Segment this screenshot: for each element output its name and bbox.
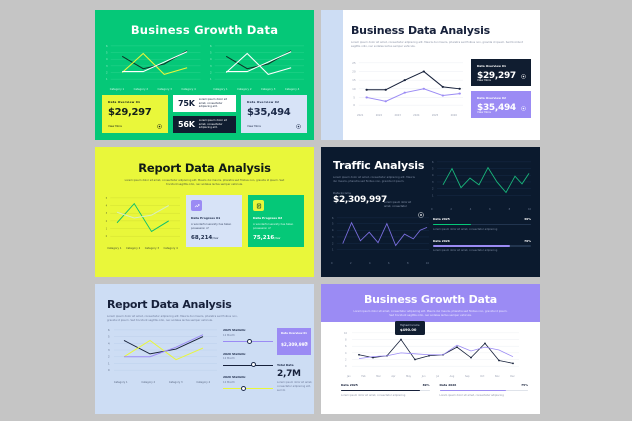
card-data-progress-01[interactable]: Data Progress 01 A wonderful serenity ha… bbox=[186, 195, 242, 247]
x-label: Category 3 bbox=[169, 381, 183, 384]
svg-text:1: 1 bbox=[432, 194, 434, 197]
card-data-overview-02[interactable]: Data Overview 02 $35,494 View More bbox=[241, 95, 307, 133]
gear-icon[interactable] bbox=[521, 96, 526, 115]
x-label: Mar bbox=[376, 375, 381, 378]
line-chart-svg: 654 321 bbox=[105, 44, 201, 82]
x-label: Feb bbox=[361, 375, 365, 378]
x-label: Category 1 bbox=[107, 247, 121, 250]
income-note: Lorem ipsum dolor sit amet, consectetur bbox=[384, 201, 412, 209]
line-chart-svg: 654 321 bbox=[209, 44, 305, 82]
svg-text:2: 2 bbox=[106, 220, 108, 223]
card-value: 75,216/Year bbox=[253, 235, 299, 241]
line-chart-svg: 1086 420 bbox=[343, 330, 519, 370]
svg-text:0: 0 bbox=[106, 235, 108, 238]
svg-text:1: 1 bbox=[106, 228, 108, 231]
svg-text:6: 6 bbox=[345, 345, 347, 348]
view-more-link[interactable]: View More bbox=[477, 110, 491, 114]
statistic-2025: 2025 Statistic 12 Month bbox=[223, 328, 273, 345]
svg-text:4: 4 bbox=[106, 205, 108, 208]
x-axis-labels: Category 1 Category 2 Category 3 Categor… bbox=[107, 381, 217, 384]
svg-text:2: 2 bbox=[332, 243, 334, 246]
progress-track[interactable] bbox=[433, 245, 531, 247]
statistic-months: 12 Month bbox=[223, 381, 273, 384]
x-axis-labels: 2021 2022 2023 2024 2025 2026 bbox=[351, 114, 463, 117]
line-chart-svg: 543 210 bbox=[105, 195, 180, 241]
progress-track[interactable] bbox=[440, 390, 529, 392]
svg-text:1: 1 bbox=[209, 77, 211, 81]
x-label: 10 bbox=[426, 262, 429, 265]
progress-label: Data 2026 bbox=[440, 383, 457, 387]
svg-text:10: 10 bbox=[352, 87, 356, 91]
progress-track[interactable] bbox=[341, 390, 430, 392]
card-data-overview-01[interactable]: Data Overview 01 $2,309,997 bbox=[277, 328, 311, 355]
progress-description: Lorem ipsum dolor sit amet, consectetur … bbox=[341, 394, 430, 397]
subtitle-text: Lorem ipsum dolor sit amet, consectetur … bbox=[95, 179, 314, 187]
svg-text:3: 3 bbox=[106, 212, 108, 215]
x-label: Dec bbox=[510, 375, 515, 378]
x-label: 2021 bbox=[357, 114, 363, 117]
svg-text:25: 25 bbox=[352, 61, 356, 65]
svg-text:6: 6 bbox=[209, 44, 211, 48]
progress-percent: 75% bbox=[521, 383, 528, 387]
svg-text:1: 1 bbox=[332, 248, 334, 251]
x-label: Category 2 bbox=[237, 88, 251, 91]
x-label: 2022 bbox=[376, 114, 382, 117]
slider-track bbox=[223, 388, 273, 389]
page-title: Business Data Analysis bbox=[351, 24, 531, 37]
kpi-text: Lorem ipsum dolor sit amet, consectetur … bbox=[199, 119, 231, 130]
x-axis-labels: Category 1 Category 2 Category 3 Categor… bbox=[209, 88, 305, 91]
card-data-overview-02[interactable]: Data Overview 02 $35,494 View More bbox=[471, 91, 531, 118]
note-icon bbox=[253, 200, 264, 211]
progress-percent: 89% bbox=[423, 383, 430, 387]
svg-text:3: 3 bbox=[432, 181, 434, 184]
line-chart-svg: 654 321 bbox=[331, 215, 429, 257]
progress-block-data-2025: Data 2025 39% Lorem ipsum dolor sit amet… bbox=[433, 217, 531, 231]
slide-header: Business Growth Data Lorem ipsum dolor s… bbox=[321, 284, 540, 322]
card-value: $29,297 bbox=[108, 107, 162, 118]
subtitle-text: Lorem ipsum dolor sit amet, consectetur … bbox=[321, 310, 540, 318]
slide-business-growth-data-purple[interactable]: Business Growth Data Lorem ipsum dolor s… bbox=[321, 284, 540, 414]
line-chart-svg: 654 321 bbox=[431, 159, 531, 203]
chart-s6: 1086 420 Jan Feb Mar Apr May Jun Jul Aug… bbox=[343, 330, 519, 374]
x-label: Jun bbox=[422, 375, 426, 378]
total-heading: Total Data bbox=[277, 363, 313, 367]
card-label: Data Overview 01 bbox=[108, 100, 162, 104]
card-value: 68,214/Year bbox=[191, 235, 237, 241]
progress-label: Data 2025 bbox=[433, 217, 450, 221]
x-label: 2 bbox=[350, 262, 352, 265]
svg-text:20: 20 bbox=[352, 70, 356, 74]
slider[interactable] bbox=[223, 386, 273, 392]
x-label: Category 4 bbox=[285, 88, 299, 91]
x-label: 2 bbox=[450, 208, 452, 211]
progress-description: Lorem ipsum dolor sit amet, consectetur … bbox=[440, 394, 529, 397]
svg-text:0: 0 bbox=[353, 104, 355, 108]
card-description: A wonderful serenity has taken possessio… bbox=[253, 223, 299, 231]
chart-s4-top: 654 321 0 2 4 6 8 10 bbox=[431, 159, 531, 211]
svg-text:5: 5 bbox=[353, 96, 355, 100]
svg-text:5: 5 bbox=[106, 197, 108, 200]
statistic-heading: 2025 Statistic bbox=[223, 328, 273, 332]
card-label: Data Overview 01 bbox=[477, 64, 525, 68]
svg-text:5: 5 bbox=[432, 168, 434, 171]
gear-icon[interactable] bbox=[304, 331, 308, 350]
svg-text:0: 0 bbox=[108, 369, 110, 372]
svg-text:3: 3 bbox=[209, 64, 211, 68]
line-chart-svg: 252015 1050 bbox=[351, 59, 463, 109]
svg-text:5: 5 bbox=[209, 51, 211, 55]
x-label: 6 bbox=[388, 262, 390, 265]
content-row: 543 210 Category 1 Category 2 Category 3… bbox=[95, 187, 314, 247]
view-more-link[interactable]: View More bbox=[108, 124, 122, 128]
card-data-overview-01[interactable]: Data Overview 01 $29,297 View More bbox=[471, 59, 531, 86]
svg-text:5: 5 bbox=[106, 51, 108, 55]
slide-business-data-analysis[interactable]: Business Data Analysis Lorem ipsum dolor… bbox=[321, 10, 540, 140]
statistic-months: 12 Month bbox=[223, 357, 273, 360]
svg-text:10: 10 bbox=[344, 332, 348, 335]
progress-percent: 79% bbox=[524, 239, 531, 243]
svg-text:6: 6 bbox=[332, 217, 334, 220]
progress-label: Data 2025 bbox=[341, 383, 358, 387]
progress-track[interactable] bbox=[433, 224, 531, 226]
x-label: Category 4 bbox=[181, 88, 195, 91]
x-label: 4 bbox=[470, 208, 472, 211]
statistic-slider-list: 2025 Statistic 12 Month 2026 Statistic 1… bbox=[223, 328, 273, 399]
x-label: Jan bbox=[347, 375, 351, 378]
page-title: Report Data Analysis bbox=[107, 298, 314, 311]
line-chart-svg: 654 3210 bbox=[107, 327, 217, 375]
x-label: 8 bbox=[407, 262, 409, 265]
x-label: Sep bbox=[465, 375, 470, 378]
x-label: Category 3 bbox=[158, 88, 172, 91]
x-label: Category 1 bbox=[110, 88, 124, 91]
x-label: 4 bbox=[369, 262, 371, 265]
progress-description: Lorem ipsum dolor sit amet, consectetur … bbox=[433, 249, 531, 252]
x-label: 10 bbox=[528, 208, 531, 211]
svg-text:4: 4 bbox=[108, 342, 110, 345]
x-label: Nov bbox=[495, 375, 500, 378]
x-label: Category 3 bbox=[261, 88, 275, 91]
x-axis-labels: Jan Feb Mar Apr May Jun Jul Aug Sep Oct … bbox=[343, 375, 519, 378]
progress-fill bbox=[341, 390, 420, 392]
slide-business-growth-data[interactable]: Business Growth Data 654 321 bbox=[95, 10, 314, 140]
total-value: 2,7M bbox=[277, 369, 313, 379]
x-label: Category 4 bbox=[196, 381, 210, 384]
x-label: 8 bbox=[509, 208, 511, 211]
chart-s3: 543 210 Category 1 Category 2 Category 3… bbox=[105, 195, 180, 247]
x-label: 6 bbox=[489, 208, 491, 211]
progress-fill bbox=[433, 245, 510, 247]
svg-text:6: 6 bbox=[106, 44, 108, 48]
statistic-2026-dark: 2026 Statistic 12 Month bbox=[223, 352, 273, 369]
x-label: Category 4 bbox=[163, 247, 177, 250]
page-title: Report Data Analysis bbox=[95, 161, 314, 175]
x-label: Oct bbox=[480, 375, 484, 378]
x-label: Aug bbox=[450, 375, 455, 378]
svg-text:8: 8 bbox=[345, 339, 347, 342]
slider[interactable] bbox=[223, 339, 273, 345]
progress-block-data-2026: Data 2026 75% Lorem ipsum dolor sit amet… bbox=[440, 383, 529, 397]
x-label: 0 bbox=[331, 262, 333, 265]
page-title: Business Growth Data bbox=[321, 293, 540, 306]
slider-track bbox=[223, 365, 273, 366]
total-description: Lorem ipsum dolor sit amet, consectetur … bbox=[277, 381, 313, 392]
page-title: Business Growth Data bbox=[95, 23, 314, 37]
slide-report-data-analysis-blue[interactable]: Report Data Analysis Lorem ipsum dolor s… bbox=[95, 284, 314, 414]
svg-text:5: 5 bbox=[332, 223, 334, 226]
slide-report-data-analysis-yellow[interactable]: Report Data Analysis Lorem ipsum dolor s… bbox=[95, 147, 314, 277]
tooltip-label: Highest Income bbox=[400, 324, 420, 327]
progress-header: Data 2026 75% bbox=[440, 383, 529, 387]
card-value: $35,494 bbox=[247, 107, 301, 118]
svg-text:6: 6 bbox=[108, 329, 110, 332]
x-label: Category 1 bbox=[114, 381, 128, 384]
x-label: 2024 bbox=[413, 114, 419, 117]
svg-text:3: 3 bbox=[108, 349, 110, 352]
x-axis-labels: 0 2 4 6 8 10 bbox=[431, 208, 531, 211]
svg-text:4: 4 bbox=[209, 57, 211, 61]
progress-header: Data 2026 79% bbox=[433, 239, 531, 243]
x-axis-labels: Category 1 Category 2 Category 3 Categor… bbox=[105, 247, 180, 250]
kpi-number: 56K bbox=[178, 120, 195, 129]
progress-label: Data 2026 bbox=[433, 239, 450, 243]
svg-text:1: 1 bbox=[108, 362, 110, 365]
progress-percent: 39% bbox=[524, 217, 531, 221]
chart-s1-right: 654 321 Category 1 Category 2 Category 3… bbox=[209, 44, 305, 90]
svg-text:2: 2 bbox=[108, 356, 110, 359]
svg-text:15: 15 bbox=[352, 79, 356, 83]
tooltip-value: $490.00 bbox=[400, 328, 420, 332]
x-label: 0 bbox=[431, 208, 433, 211]
total-data-block: Total Data 2,7M Lorem ipsum dolor sit am… bbox=[277, 363, 313, 392]
slide-body: Business Data Analysis Lorem ipsum dolor… bbox=[351, 24, 531, 118]
x-label: Jul bbox=[436, 375, 439, 378]
x-label: 2025 bbox=[432, 114, 438, 117]
progress-bar-list: Data 2025 89% Lorem ipsum dolor sit amet… bbox=[341, 383, 528, 397]
x-label: Category 3 bbox=[145, 247, 159, 250]
svg-text:2: 2 bbox=[345, 359, 347, 362]
slide-deck-grid: Business Growth Data 654 321 bbox=[95, 10, 540, 415]
slider[interactable] bbox=[223, 362, 273, 368]
card-description: A wonderful serenity has taken possessio… bbox=[191, 223, 237, 231]
x-label: 2023 bbox=[394, 114, 400, 117]
chart-s2: 252015 1050 2021 2022 2023 2024 2025 bbox=[351, 59, 463, 115]
svg-text:3: 3 bbox=[332, 236, 334, 239]
card-label: Data Overview 02 bbox=[477, 96, 525, 100]
chart-s1-left: 654 321 Category 1 Category 2 Category 3… bbox=[105, 44, 201, 90]
statistic-heading: 2026 Statistic bbox=[223, 375, 273, 379]
card-value-unit: /Year bbox=[274, 237, 280, 240]
subtitle-text: Lorem ipsum dolor sit amet, consectetur … bbox=[107, 315, 247, 323]
x-label: Category 1 bbox=[213, 88, 227, 91]
card-data-overview-01[interactable]: Data Overview 01 $29,297 View More bbox=[102, 95, 168, 133]
svg-text:4: 4 bbox=[432, 174, 434, 177]
chart-tooltip: Highest Income $490.00 bbox=[395, 321, 425, 335]
subtitle-text: Lorem ipsum dolor sit amet, consectetur … bbox=[351, 41, 531, 49]
gear-icon[interactable] bbox=[521, 64, 526, 83]
card-heading: Data Progress 02 bbox=[253, 216, 299, 220]
svg-text:5: 5 bbox=[108, 336, 110, 339]
x-axis-labels: 0 2 4 6 8 10 bbox=[331, 262, 429, 265]
chart-up-icon bbox=[191, 200, 202, 211]
view-more-link[interactable]: View More bbox=[477, 78, 491, 82]
svg-text:0: 0 bbox=[345, 365, 347, 368]
x-label: Category 2 bbox=[126, 247, 140, 250]
progress-header: Data 2025 89% bbox=[341, 383, 430, 387]
progress-fill bbox=[433, 224, 471, 226]
svg-text:2: 2 bbox=[209, 70, 211, 74]
progress-description: Lorem ipsum dolor sit amet, consectetur … bbox=[433, 228, 531, 231]
progress-bar-list: Data 2025 39% Lorem ipsum dolor sit amet… bbox=[433, 217, 531, 260]
x-label: Apr bbox=[391, 375, 395, 378]
card-value-number: 68,214 bbox=[191, 235, 212, 241]
svg-text:1: 1 bbox=[106, 77, 108, 81]
svg-text:4: 4 bbox=[345, 352, 347, 355]
gear-icon[interactable] bbox=[296, 124, 301, 129]
card-column: Data Overview 01 $29,297 View More Data … bbox=[471, 59, 531, 118]
card-value-number: 75,216 bbox=[253, 235, 274, 241]
card-label: Data Overview 02 bbox=[247, 100, 301, 104]
x-axis-labels: Category 1 Category 2 Category 3 Categor… bbox=[105, 88, 201, 91]
card-value-unit: /Year bbox=[212, 237, 218, 240]
accent-band bbox=[321, 10, 343, 140]
svg-text:4: 4 bbox=[106, 57, 108, 61]
kpi-column: 75K Lorem ipsum dolor sit amet, consecte… bbox=[173, 95, 236, 133]
chart-s5: 654 3210 Category 1 Category 2 Category … bbox=[107, 327, 217, 382]
x-label: May bbox=[406, 375, 411, 378]
slider-knob[interactable] bbox=[241, 386, 246, 391]
x-label: 2026 bbox=[451, 114, 457, 117]
slider-knob[interactable] bbox=[251, 362, 256, 367]
svg-text:4: 4 bbox=[332, 229, 334, 232]
kpi-56k[interactable]: 56K Lorem ipsum dolor sit amet, consecte… bbox=[173, 116, 236, 133]
gear-icon[interactable] bbox=[157, 124, 162, 129]
chart-s4-bottom: 654 321 0 2 4 6 8 10 bbox=[331, 215, 429, 263]
statistic-months: 12 Month bbox=[223, 334, 273, 337]
progress-block-data-2025: Data 2025 89% Lorem ipsum dolor sit amet… bbox=[341, 383, 430, 397]
x-label: Category 2 bbox=[134, 88, 148, 91]
view-more-link[interactable]: View More bbox=[247, 124, 261, 128]
kpi-text: Lorem ipsum dolor sit amet, consectetur … bbox=[199, 98, 231, 109]
progress-header: Data 2025 39% bbox=[433, 217, 531, 221]
kpi-card-row: Data Overview 01 $29,297 View More 75K L… bbox=[102, 95, 307, 133]
subtitle-text: Lorem ipsum dolor sit amet, consectetur … bbox=[333, 176, 415, 184]
kpi-75k[interactable]: 75K Lorem ipsum dolor sit amet, consecte… bbox=[173, 95, 236, 112]
kpi-number: 75K bbox=[178, 99, 195, 108]
slider-knob[interactable] bbox=[247, 339, 252, 344]
chart-row: 654 321 Category 1 Category 2 Category 3… bbox=[95, 37, 314, 90]
progress-fill bbox=[440, 390, 506, 392]
svg-text:2: 2 bbox=[106, 70, 108, 74]
statistic-2026-yellow: 2026 Statistic 12 Month bbox=[223, 375, 273, 392]
statistic-heading: 2026 Statistic bbox=[223, 352, 273, 356]
svg-text:2: 2 bbox=[432, 188, 434, 191]
card-heading: Data Progress 01 bbox=[191, 216, 237, 220]
svg-text:6: 6 bbox=[432, 161, 434, 164]
slide-traffic-analysis[interactable]: Traffic Analysis Lorem ipsum dolor sit a… bbox=[321, 147, 540, 277]
svg-text:3: 3 bbox=[106, 64, 108, 68]
card-data-progress-02[interactable]: Data Progress 02 A wonderful serenity ha… bbox=[248, 195, 304, 247]
progress-block-data-2026: Data 2026 79% Lorem ipsum dolor sit amet… bbox=[433, 239, 531, 253]
content-row: 252015 1050 2021 2022 2023 2024 2025 bbox=[351, 59, 531, 118]
x-label: Category 2 bbox=[141, 381, 155, 384]
